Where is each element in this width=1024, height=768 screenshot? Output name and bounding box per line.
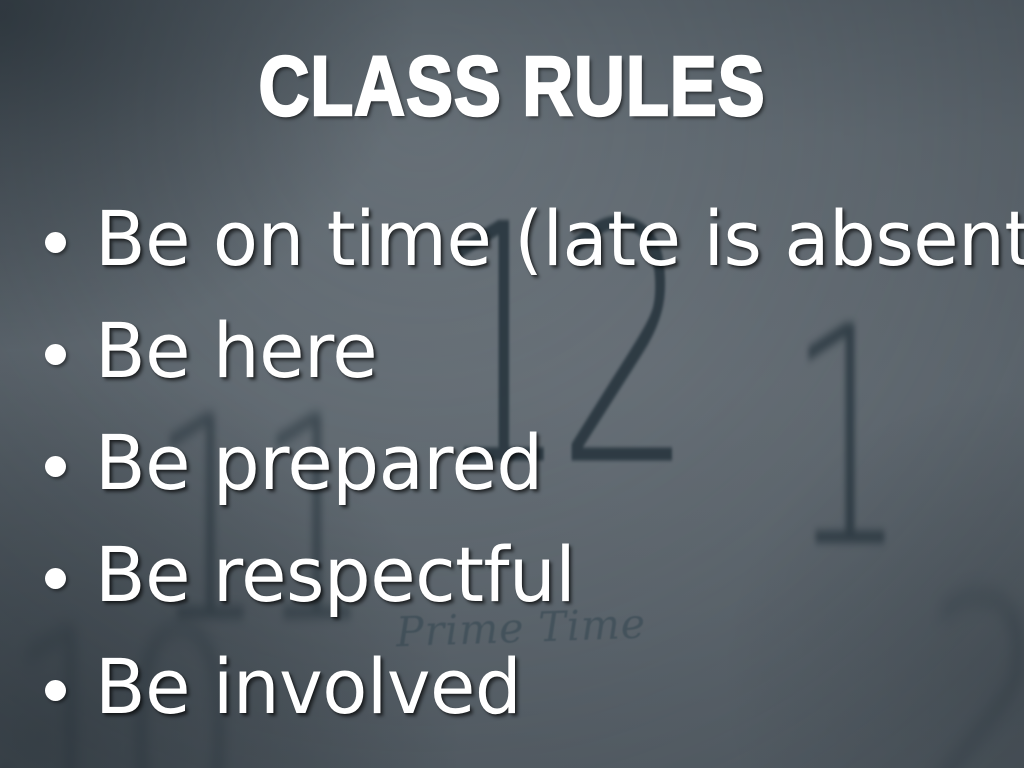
slide-canvas: 12 1 11 10 2 Prime Time CLASS RULES Be o… xyxy=(0,0,1024,768)
rule-item: Be here xyxy=(36,312,996,424)
rule-item: Be respectful xyxy=(36,536,996,648)
bullet-dot-icon xyxy=(45,680,66,701)
slide-content: CLASS RULES Be on time (late is absent)B… xyxy=(0,0,1024,768)
rule-item-label: Be respectful xyxy=(95,536,575,614)
rule-item: Be on time (late is absent) xyxy=(36,200,996,312)
rules-bullet-list: Be on time (late is absent)Be hereBe pre… xyxy=(36,200,996,760)
slide-title: CLASS RULES xyxy=(82,44,942,128)
bullet-dot-icon xyxy=(45,456,66,477)
bullet-dot-icon xyxy=(45,232,66,253)
rule-item: Be prepared xyxy=(36,424,996,536)
rule-item: Be involved xyxy=(36,648,996,760)
bullet-dot-icon xyxy=(45,568,66,589)
bullet-dot-icon xyxy=(45,344,66,365)
rule-item-label: Be prepared xyxy=(95,424,543,502)
rule-item-label: Be on time (late is absent) xyxy=(95,200,1024,278)
rule-item-label: Be involved xyxy=(95,648,521,726)
rule-item-label: Be here xyxy=(95,312,377,390)
